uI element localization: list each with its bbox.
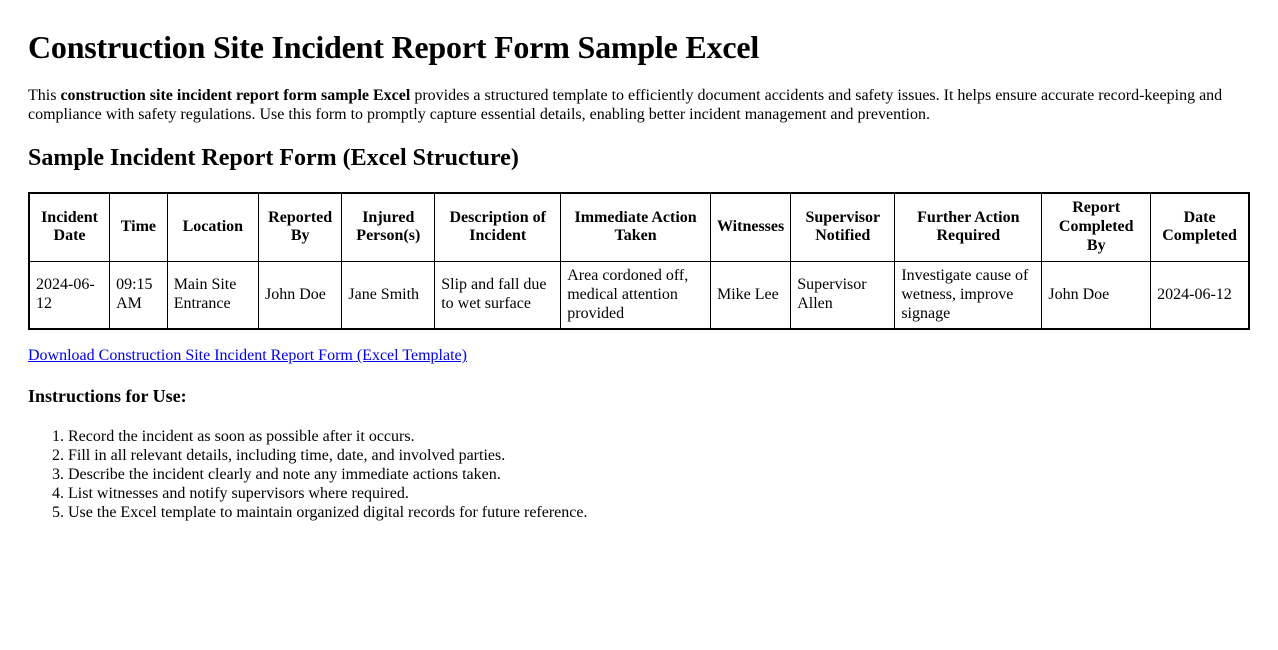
list-item: List witnesses and notify supervisors wh… (68, 485, 1250, 504)
column-header-date-completed: Date Completed (1151, 193, 1249, 261)
cell-reported-by: John Doe (258, 261, 341, 329)
cell-time: 09:15 AM (110, 261, 168, 329)
column-header-injured-persons: Injured Person(s) (342, 193, 435, 261)
cell-description-of-incident: Slip and fall due to wet surface (435, 261, 561, 329)
column-header-immediate-action-taken: Immediate Action Taken (561, 193, 711, 261)
intro-paragraph: This construction site incident report f… (28, 87, 1228, 125)
download-excel-template-link[interactable]: Download Construction Site Incident Repo… (28, 347, 467, 364)
cell-incident-date: 2024-06-12 (29, 261, 110, 329)
cell-immediate-action-taken: Area cordoned off, medical attention pro… (561, 261, 711, 329)
list-item: Record the incident as soon as possible … (68, 428, 1250, 447)
column-header-witnesses: Witnesses (710, 193, 790, 261)
column-header-supervisor-notified: Supervisor Notified (791, 193, 895, 261)
cell-supervisor-notified: Supervisor Allen (791, 261, 895, 329)
table-row: 2024-06-12 09:15 AM Main Site Entrance J… (29, 261, 1249, 329)
table-header-row: Incident Date Time Location Reported By … (29, 193, 1249, 261)
cell-location: Main Site Entrance (167, 261, 258, 329)
column-header-report-completed-by: Report Completed By (1042, 193, 1151, 261)
cell-date-completed: 2024-06-12 (1151, 261, 1249, 329)
column-header-incident-date: Incident Date (29, 193, 110, 261)
column-header-location: Location (167, 193, 258, 261)
section-title: Sample Incident Report Form (Excel Struc… (28, 145, 1250, 173)
list-item: Describe the incident clearly and note a… (68, 466, 1250, 485)
intro-lead: This (28, 87, 60, 104)
column-header-reported-by: Reported By (258, 193, 341, 261)
list-item: Fill in all relevant details, including … (68, 447, 1250, 466)
page-title: Construction Site Incident Report Form S… (28, 29, 1250, 66)
column-header-time: Time (110, 193, 168, 261)
instructions-title: Instructions for Use: (28, 386, 1250, 407)
download-link-paragraph: Download Construction Site Incident Repo… (28, 347, 1250, 365)
list-item: Use the Excel template to maintain organ… (68, 504, 1250, 523)
instructions-list: Record the incident as soon as possible … (28, 428, 1250, 522)
table-body: 2024-06-12 09:15 AM Main Site Entrance J… (29, 261, 1249, 329)
cell-further-action-required: Investigate cause of wetness, improve si… (895, 261, 1042, 329)
cell-witnesses: Mike Lee (710, 261, 790, 329)
column-header-further-action-required: Further Action Required (895, 193, 1042, 261)
cell-injured-persons: Jane Smith (342, 261, 435, 329)
incident-report-table: Incident Date Time Location Reported By … (28, 192, 1250, 330)
intro-bold-phrase: construction site incident report form s… (60, 87, 410, 104)
document-body: Construction Site Incident Report Form S… (8, 29, 1270, 523)
table-head: Incident Date Time Location Reported By … (29, 193, 1249, 261)
cell-report-completed-by: John Doe (1042, 261, 1151, 329)
column-header-description-of-incident: Description of Incident (435, 193, 561, 261)
